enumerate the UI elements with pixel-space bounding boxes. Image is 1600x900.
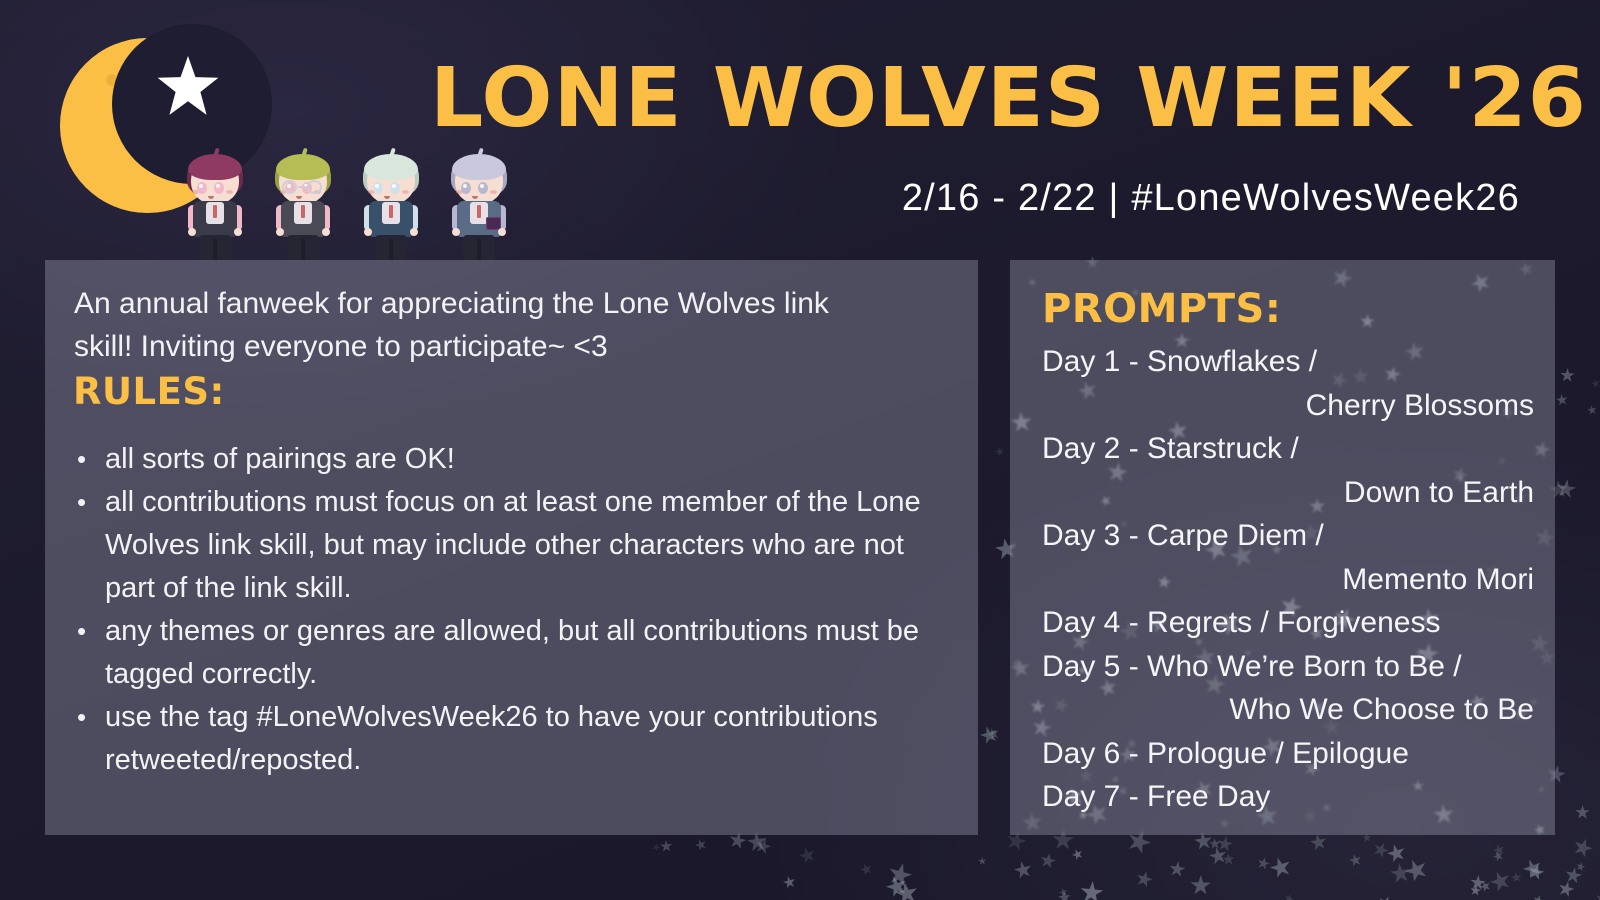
- prompts-list: Day 1 - Snowflakes /Cherry BlossomsDay 2…: [1042, 340, 1534, 819]
- chibi-hand: [498, 228, 506, 236]
- decorative-star: [1469, 884, 1482, 897]
- rule-item: all sorts of pairings are OK!: [73, 438, 953, 481]
- poster-canvas: LONE WOLVES WEEK '26 2/16 - 2/22 | #Lone…: [0, 0, 1600, 900]
- decorative-star: [884, 873, 911, 900]
- decorative-star: [1487, 868, 1514, 895]
- chibi-blush: [226, 190, 233, 194]
- decorative-star: [1478, 880, 1492, 894]
- chibi-character-1: [182, 155, 248, 263]
- decorative-star: [1491, 849, 1505, 863]
- chibi-character-3: [358, 155, 424, 263]
- moon-crater: [106, 74, 118, 86]
- decorative-star: [1267, 854, 1293, 880]
- decorative-star: [1221, 852, 1234, 865]
- intro-line-2: skill! Inviting everyone to participate~…: [74, 325, 950, 368]
- chibi-legs: [375, 235, 407, 261]
- page-title: LONE WOLVES WEEK '26: [430, 56, 1547, 142]
- decorative-star: [1058, 887, 1069, 898]
- decorative-star: [1168, 859, 1187, 878]
- rule-item: any themes or genres are allowed, but al…: [73, 610, 953, 696]
- chibi-blush: [402, 190, 409, 194]
- info-panel: An annual fanweek for appreciating the L…: [45, 260, 978, 835]
- prompt-item: Day 1 - Snowflakes /Cherry Blossoms: [1042, 340, 1534, 427]
- chibi-eye: [373, 182, 383, 194]
- rules-list: all sorts of pairings are OK!all contrib…: [73, 438, 953, 782]
- decorative-star: [1190, 875, 1212, 897]
- decorative-star: [1347, 853, 1362, 868]
- prompt-continuation: Memento Mori: [1042, 558, 1534, 602]
- prompt-label: Day 5 - Who We’re Born to Be /: [1042, 650, 1462, 683]
- prompt-item: Day 2 - Starstruck /Down to Earth: [1042, 427, 1534, 514]
- decorative-star: [1134, 869, 1155, 890]
- decorative-star: [894, 880, 921, 900]
- prompt-item: Day 7 - Free Day: [1042, 775, 1534, 819]
- decorative-star: [978, 724, 1001, 747]
- decorative-star: [994, 446, 1005, 457]
- chibi-character-2: [270, 155, 336, 263]
- intro-paragraph: An annual fanweek for appreciating the L…: [74, 282, 950, 368]
- decorative-star: [1401, 856, 1431, 886]
- chibi-legs: [199, 235, 231, 261]
- rule-item: use the tag #LoneWolvesWeek26 to have yo…: [73, 696, 953, 782]
- prompt-label: Day 1 - Snowflakes /: [1042, 345, 1317, 378]
- chibi-eye: [214, 182, 224, 194]
- prompt-item: Day 3 - Carpe Diem /Memento Mori: [1042, 514, 1534, 601]
- prompt-label: Day 6 - Prologue / Epilogue: [1042, 737, 1409, 770]
- prompt-continuation: Down to Earth: [1042, 471, 1534, 515]
- chibi-hand: [276, 228, 284, 236]
- decorative-star: [1570, 835, 1595, 860]
- decorative-star: [1491, 842, 1506, 857]
- decorative-star: [1208, 838, 1221, 851]
- prompts-panel: PROMPTS: Day 1 - Snowflakes /Cherry Blos…: [1010, 260, 1555, 835]
- prompts-heading: PROMPTS:: [1042, 287, 1281, 331]
- decorative-star: [1057, 890, 1072, 900]
- decorative-star: [885, 860, 914, 889]
- decorative-star: [1012, 859, 1034, 881]
- decorative-star: [797, 845, 818, 866]
- prompt-label: Day 4 - Regrets / Forgiveness: [1042, 606, 1440, 639]
- decorative-star: [1309, 833, 1329, 853]
- decorative-star: [986, 726, 1002, 742]
- decorative-star: [1560, 368, 1575, 383]
- decorative-star: [782, 874, 797, 889]
- decorative-star: [1208, 846, 1229, 867]
- decorative-star: [1556, 879, 1576, 899]
- chibi-eye: [197, 182, 207, 194]
- decorative-star: [1554, 478, 1577, 501]
- prompt-item: Day 4 - Regrets / Forgiveness: [1042, 601, 1534, 645]
- prompt-label: Day 2 - Starstruck /: [1042, 432, 1299, 465]
- poster-header: LONE WOLVES WEEK '26 2/16 - 2/22 | #Lone…: [0, 0, 1600, 260]
- decorative-star: [1587, 404, 1599, 416]
- decorative-star: [1371, 839, 1392, 860]
- decorative-star: [1469, 874, 1486, 891]
- decorative-star: [1563, 866, 1583, 886]
- chibi-hand: [188, 228, 196, 236]
- decorative-star: [978, 857, 987, 866]
- decorative-star: [858, 861, 874, 877]
- prompt-item: Day 6 - Prologue / Epilogue: [1042, 732, 1534, 776]
- prompt-item: Day 5 - Who We’re Born to Be /Who We Cho…: [1042, 645, 1534, 732]
- decorative-star: [1070, 848, 1084, 862]
- rules-heading: RULES:: [73, 372, 225, 412]
- decorative-star: [753, 836, 774, 857]
- decorative-star: [1511, 871, 1523, 883]
- decorative-star: [1256, 855, 1272, 871]
- chibi-hand: [410, 228, 418, 236]
- intro-line-1: An annual fanweek for appreciating the L…: [74, 282, 950, 325]
- decorative-star: [1215, 834, 1233, 852]
- decorative-star: [1575, 805, 1590, 820]
- chibi-hand: [452, 228, 460, 236]
- prompt-label: Day 7 - Free Day: [1042, 780, 1270, 813]
- decorative-star: [1038, 851, 1057, 870]
- chibi-tie: [301, 205, 305, 218]
- chibi-hand: [364, 228, 372, 236]
- decorative-star: [1388, 862, 1411, 885]
- decorative-star: [1532, 894, 1545, 900]
- chibi-eye: [390, 182, 400, 194]
- decorative-star: [1079, 880, 1105, 900]
- chibi-tie: [213, 205, 217, 218]
- decorative-star: [1526, 862, 1546, 882]
- decorative-star: [1590, 378, 1600, 389]
- decorative-star: [1376, 894, 1396, 900]
- prompt-continuation: Cherry Blossoms: [1042, 384, 1534, 428]
- decorative-star: [1575, 861, 1586, 872]
- decorative-star: [1520, 856, 1545, 881]
- decorative-star: [1385, 841, 1408, 864]
- chibi-hand: [322, 228, 330, 236]
- chibi-legs: [287, 235, 319, 261]
- chibi-tie: [389, 205, 393, 218]
- prompt-continuation: Who We Choose to Be: [1042, 688, 1534, 732]
- rule-item: all contributions must focus on at least…: [73, 481, 953, 610]
- decorative-star: [660, 840, 673, 853]
- decorative-star: [1591, 887, 1600, 900]
- decorative-star: [1283, 893, 1296, 900]
- decorative-star: [693, 837, 708, 852]
- glasses-icon: [281, 180, 325, 195]
- decorative-star: [1555, 393, 1568, 406]
- decorative-star: [651, 842, 662, 853]
- prompt-label: Day 3 - Carpe Diem /: [1042, 519, 1324, 552]
- event-dates-and-hashtag: 2/16 - 2/22 | #LoneWolvesWeek26: [430, 176, 1520, 220]
- chibi-hand: [234, 228, 242, 236]
- chibi-legs: [463, 235, 495, 261]
